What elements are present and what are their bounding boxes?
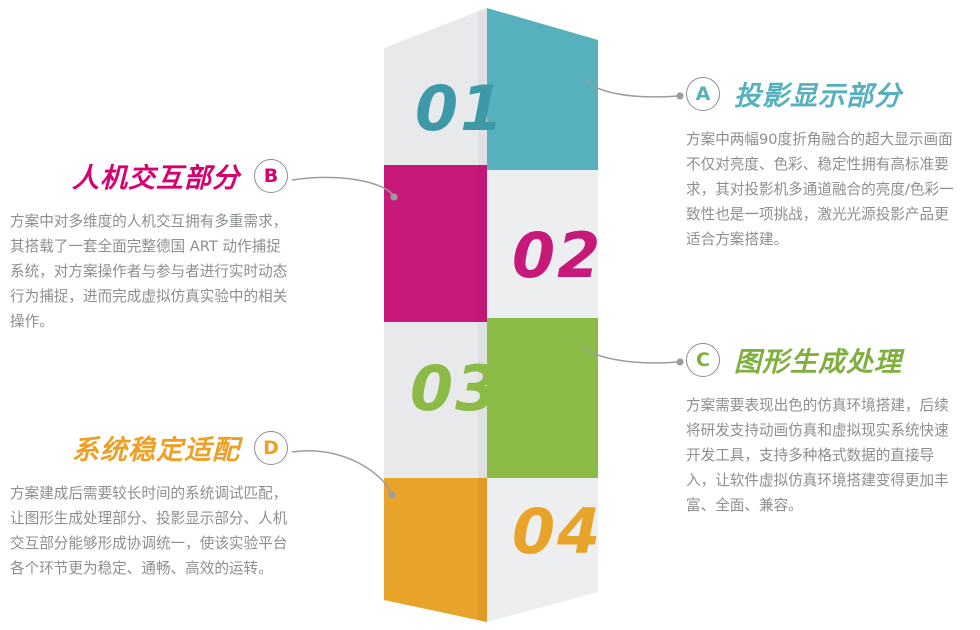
section-b-header: 人机交互部分 B bbox=[10, 156, 288, 195]
section-c-body: 方案需要表现出色的仿真环境搭建，后续将研发支持动画仿真和虚拟现实系统快速开发工具… bbox=[686, 393, 958, 518]
section-a: A 投影显示部分 方案中两幅90度折角融合的超大显示画面不仅对亮度、色彩、稳定性… bbox=[686, 74, 958, 252]
section-c-title: 图形生成处理 bbox=[734, 340, 902, 379]
section-c: C 图形生成处理 方案需要表现出色的仿真环境搭建，后续将研发支持动画仿真和虚拟现… bbox=[686, 340, 958, 518]
section-a-badge: A bbox=[686, 77, 720, 111]
section-a-header: A 投影显示部分 bbox=[686, 74, 958, 113]
section-a-body: 方案中两幅90度折角融合的超大显示画面不仅对亮度、色彩、稳定性拥有高标准要求，其… bbox=[686, 127, 958, 252]
section-c-header: C 图形生成处理 bbox=[686, 340, 958, 379]
section-b-title: 人机交互部分 bbox=[72, 156, 240, 195]
infographic-canvas: 01 02 03 04 A 投影显示部分 方案中两幅90度折角融合的超大显示画面… bbox=[0, 0, 980, 630]
prism-number-03: 03 bbox=[410, 352, 500, 425]
section-d: 系统稳定适配 D 方案建成后需要较长时间的系统调试匹配，让图形生成处理部分、投影… bbox=[10, 428, 288, 581]
section-d-badge: D bbox=[254, 431, 288, 465]
section-b-badge: B bbox=[254, 159, 288, 193]
prism-number-02: 02 bbox=[512, 219, 602, 292]
prism-number-04: 04 bbox=[512, 495, 602, 568]
section-d-title: 系统稳定适配 bbox=[72, 428, 240, 467]
section-b: 人机交互部分 B 方案中对多维度的人机交互拥有多重需求，其搭载了一套全面完整德国… bbox=[10, 156, 288, 334]
prism-number-01: 01 bbox=[415, 72, 505, 145]
section-d-body: 方案建成后需要较长时间的系统调试匹配，让图形生成处理部分、投影显示部分、人机交互… bbox=[10, 481, 288, 581]
section-a-title: 投影显示部分 bbox=[734, 74, 902, 113]
section-d-header: 系统稳定适配 D bbox=[10, 428, 288, 467]
section-c-badge: C bbox=[686, 343, 720, 377]
section-b-body: 方案中对多维度的人机交互拥有多重需求，其搭载了一套全面完整德国 ART 动作捕捉… bbox=[10, 209, 288, 334]
